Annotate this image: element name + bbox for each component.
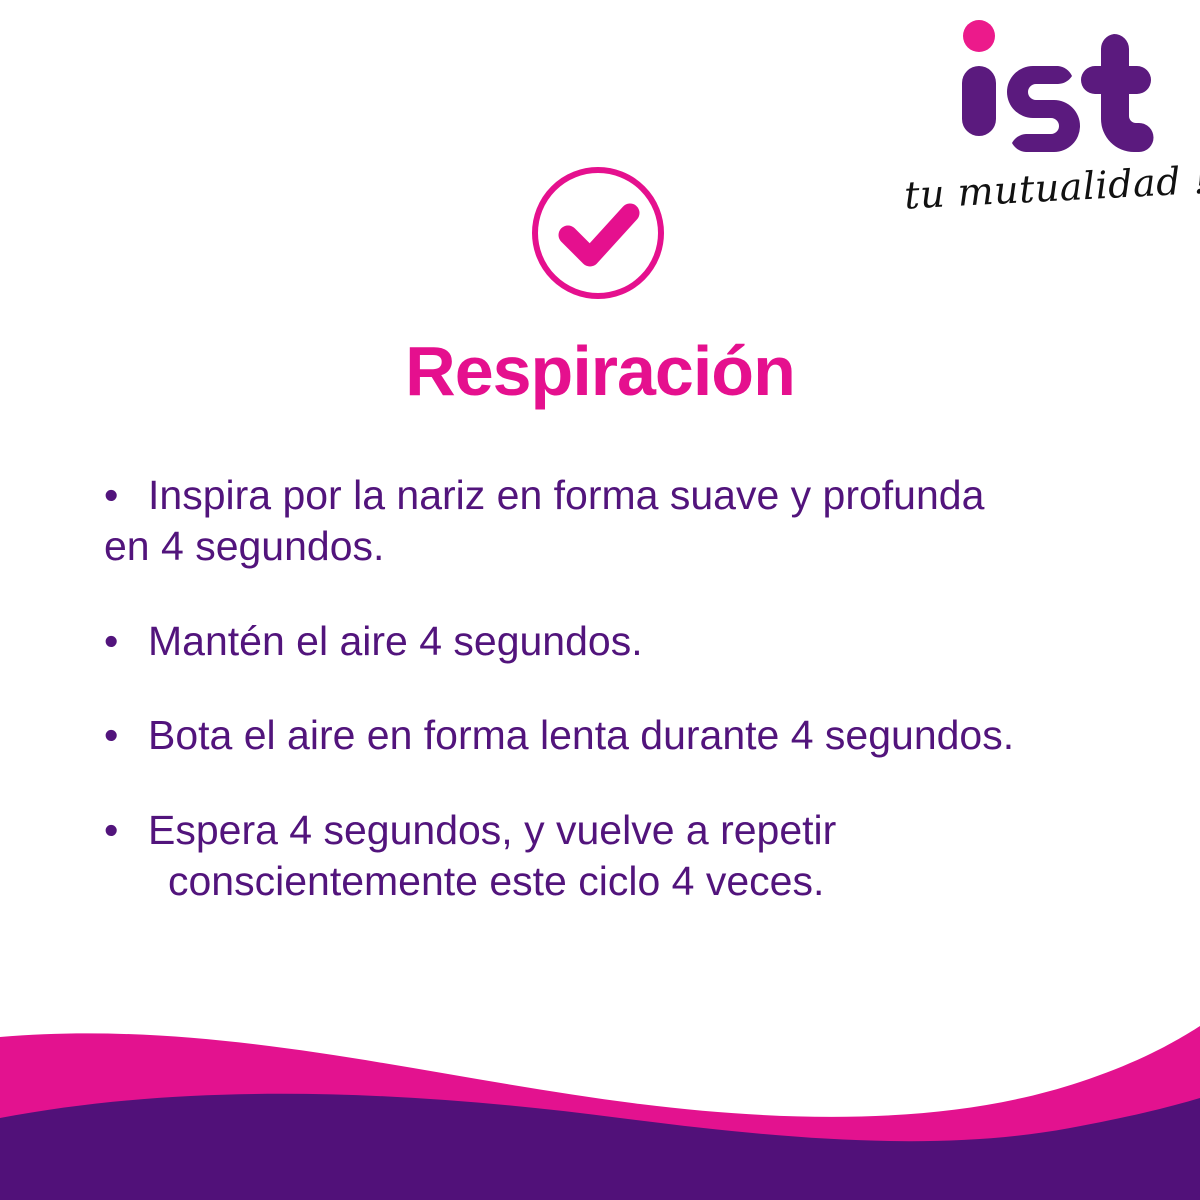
check-circle-svg <box>528 163 668 303</box>
list-item-line: Inspira por la nariz en forma suave y pr… <box>148 470 1124 521</box>
ist-logo-svg <box>954 18 1154 158</box>
wave-svg <box>0 1000 1200 1200</box>
check-circle-outline <box>535 170 661 296</box>
list-item-text: Inspira por la nariz en forma suave y pr… <box>104 470 1124 572</box>
list-item-line: conscientemente este ciclo 4 veces. <box>148 856 1124 907</box>
brand-tagline: tu mutualidad ! <box>903 160 1165 218</box>
bullet-marker-icon: • <box>104 616 142 667</box>
list-item-line: Mantén el aire 4 segundos. <box>148 616 1124 667</box>
list-item-line: Bota el aire en forma lenta durante 4 se… <box>148 710 1124 761</box>
logo-letter-s <box>1007 66 1080 152</box>
list-item-text: Bota el aire en forma lenta durante 4 se… <box>104 710 1124 761</box>
list-item-text: Espera 4 segundos, y vuelve a repetir co… <box>104 805 1124 907</box>
logo-dot-icon <box>963 20 995 52</box>
list-item: • Mantén el aire 4 segundos. <box>104 616 1124 667</box>
list-item: • Inspira por la nariz en forma suave y … <box>104 470 1124 572</box>
logo-letter-t <box>1081 34 1154 152</box>
page-title: Respiración <box>0 336 1200 406</box>
list-item-line: Espera 4 segundos, y vuelve a repetir <box>148 805 1124 856</box>
ist-logo-mark <box>954 18 1154 158</box>
logo-letter-i <box>962 66 996 136</box>
bullet-marker-icon: • <box>104 710 142 761</box>
check-mark-icon <box>568 213 630 257</box>
instruction-list: • Inspira por la nariz en forma suave y … <box>104 470 1124 907</box>
bullet-marker-icon: • <box>104 470 142 521</box>
list-item-text: Mantén el aire 4 segundos. <box>104 616 1124 667</box>
list-item: • Espera 4 segundos, y vuelve a repetir … <box>104 805 1124 907</box>
brand-logo: tu mutualidad ! <box>902 18 1172 233</box>
poster-canvas: tu mutualidad ! Respiración • Inspira po… <box>0 0 1200 1200</box>
bullet-marker-icon: • <box>104 805 142 856</box>
list-item: • Bota el aire en forma lenta durante 4 … <box>104 710 1124 761</box>
check-circle-icon <box>528 163 668 303</box>
bottom-wave-decoration <box>0 1000 1200 1200</box>
list-item-line: en 4 segundos. <box>104 521 1124 572</box>
